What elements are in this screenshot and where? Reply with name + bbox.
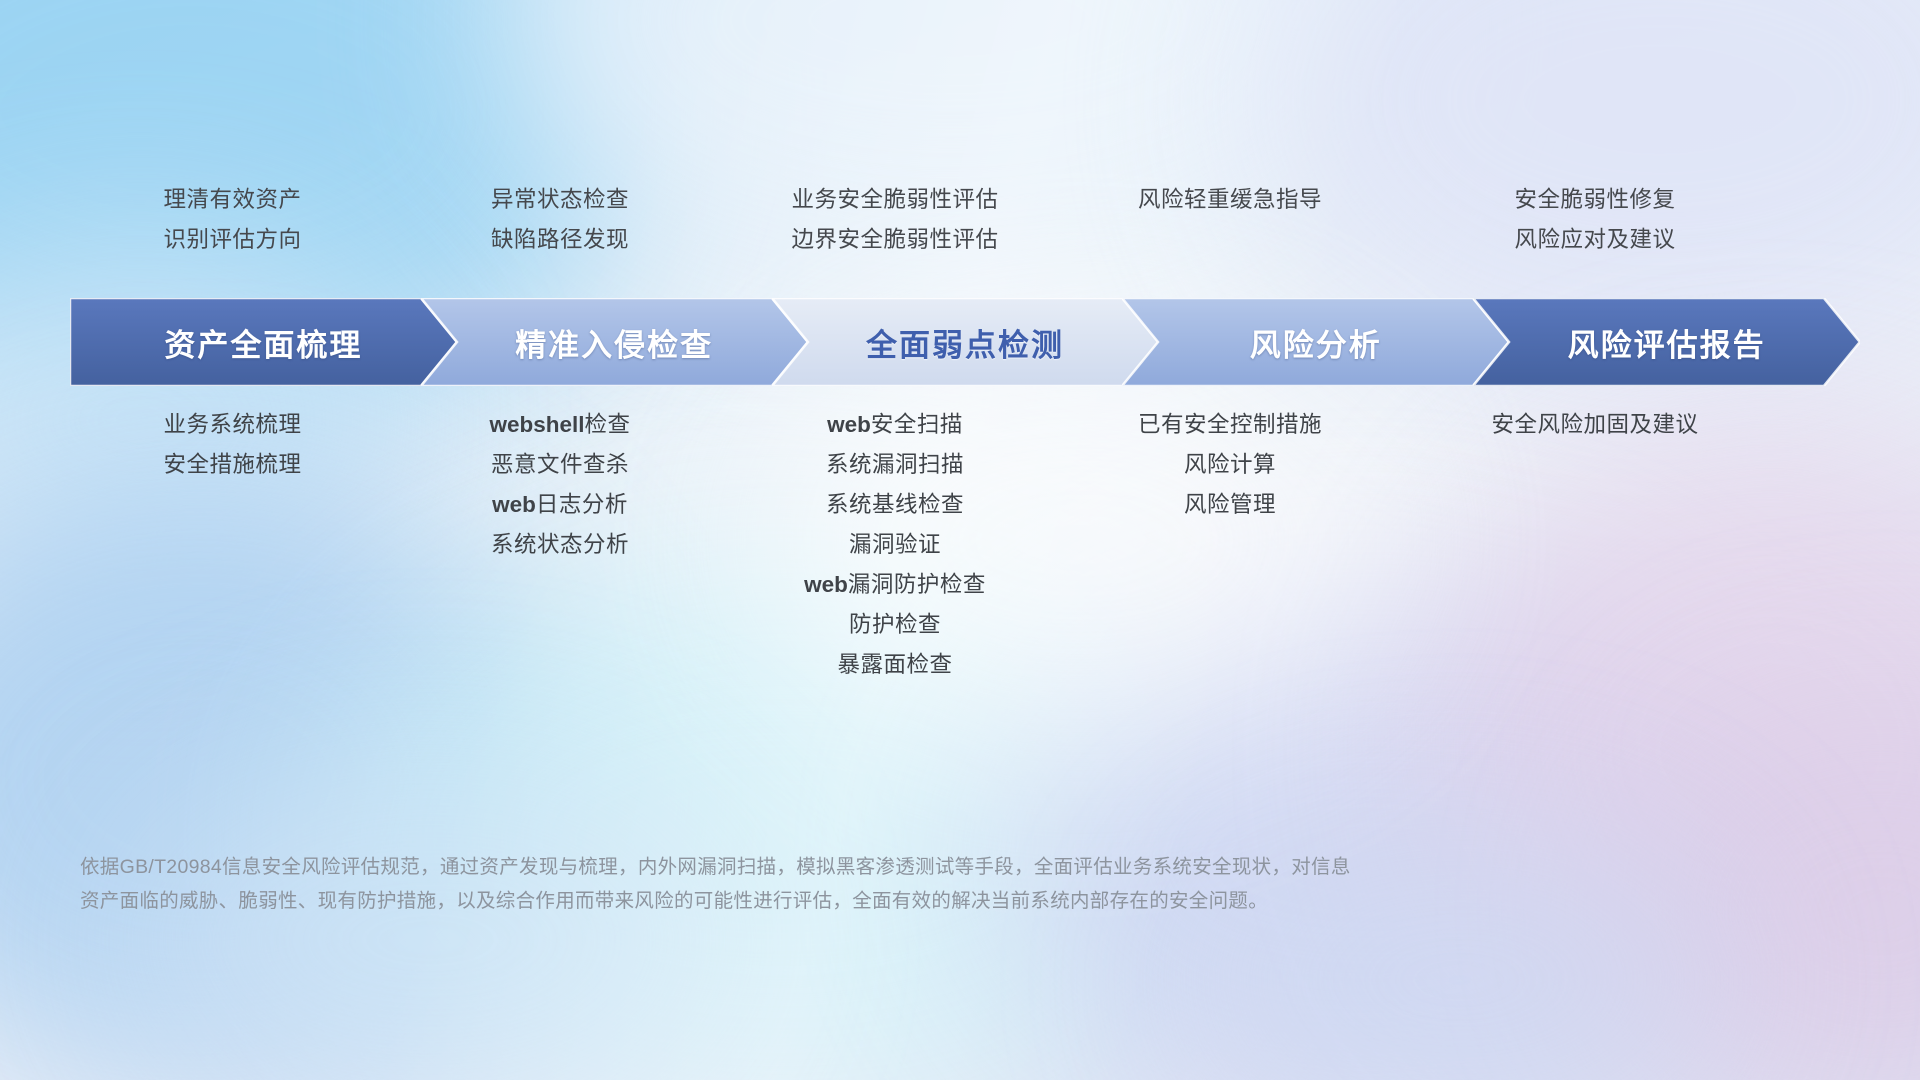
bottom-item-prefix: web	[827, 412, 871, 437]
top-column-2: 异常状态检查缺陷路径发现	[395, 180, 725, 260]
bottom-item: 防护检查	[725, 605, 1065, 645]
process-stage-4[interactable]: 风险分析	[1122, 298, 1509, 386]
process-stage-label: 风险评估报告	[1568, 320, 1766, 365]
bottom-detail-row: 业务系统梳理安全措施梳理webshell检查恶意文件查杀web日志分析系统状态分…	[70, 405, 1860, 685]
bottom-item: 暴露面检查	[725, 645, 1065, 685]
top-item: 风险应对及建议	[1395, 220, 1795, 260]
bottom-item-label: 日志分析	[536, 492, 628, 517]
top-item: 识别评估方向	[70, 220, 395, 260]
process-chevron-banner: 资产全面梳理精准入侵检查全面弱点检测风险分析风险评估报告	[70, 298, 1860, 386]
top-column-4: 风险轻重缓急指导	[1065, 180, 1395, 260]
bottom-item: 已有安全控制措施	[1065, 405, 1395, 445]
bottom-item-label: 恶意文件查杀	[491, 452, 629, 477]
bottom-item-prefix: web	[804, 572, 848, 597]
bottom-item-label: 系统基线检查	[826, 492, 964, 517]
footer-line-1: 依据GB/T20984信息安全风险评估规范，通过资产发现与梳理，内外网漏洞扫描，…	[80, 850, 1380, 884]
bottom-item: 业务系统梳理	[70, 405, 395, 445]
bottom-item: 风险计算	[1065, 445, 1395, 485]
bottom-item: web日志分析	[395, 485, 725, 525]
bottom-item: 风险管理	[1065, 485, 1395, 525]
bottom-item-prefix: web	[492, 492, 536, 517]
footer-line-2: 资产面临的威胁、脆弱性、现有防护措施，以及综合作用而带来风险的可能性进行评估，全…	[80, 884, 1380, 918]
top-column-5: 安全脆弱性修复风险应对及建议	[1395, 180, 1795, 260]
process-stage-5[interactable]: 风险评估报告	[1473, 298, 1860, 386]
bottom-item: 安全措施梳理	[70, 445, 395, 485]
bottom-item-label: 漏洞防护检查	[848, 572, 986, 597]
bottom-item: 系统基线检查	[725, 485, 1065, 525]
process-stage-2[interactable]: 精准入侵检查	[421, 298, 808, 386]
top-column-1: 理清有效资产识别评估方向	[70, 180, 395, 260]
bottom-item-label: 检查	[585, 412, 631, 437]
bottom-item-prefix: webshell	[489, 412, 584, 437]
top-item: 边界安全脆弱性评估	[725, 220, 1065, 260]
footer-description: 依据GB/T20984信息安全风险评估规范，通过资产发现与梳理，内外网漏洞扫描，…	[80, 850, 1380, 918]
bottom-item-label: 风险计算	[1184, 452, 1276, 477]
bottom-item: 系统漏洞扫描	[725, 445, 1065, 485]
top-item: 缺陷路径发现	[395, 220, 725, 260]
bottom-item-label: 风险管理	[1184, 492, 1276, 517]
bottom-item-label: 防护检查	[849, 612, 941, 637]
bottom-item-label: 业务系统梳理	[163, 412, 301, 437]
bottom-item-label: 漏洞验证	[849, 532, 941, 557]
bottom-item: webshell检查	[395, 405, 725, 445]
bottom-item-label: 暴露面检查	[837, 652, 952, 677]
bottom-column-5: 安全风险加固及建议	[1395, 405, 1795, 685]
top-item: 理清有效资产	[70, 180, 395, 220]
top-descriptor-row: 理清有效资产识别评估方向异常状态检查缺陷路径发现业务安全脆弱性评估边界安全脆弱性…	[70, 180, 1860, 260]
bottom-column-2: webshell检查恶意文件查杀web日志分析系统状态分析	[395, 405, 725, 685]
process-stage-label: 资产全面梳理	[164, 320, 362, 365]
bottom-item-label: 安全风险加固及建议	[1491, 412, 1698, 437]
bottom-item-label: 安全扫描	[871, 412, 963, 437]
process-stage-1[interactable]: 资产全面梳理	[70, 298, 457, 386]
top-item: 风险轻重缓急指导	[1065, 180, 1395, 220]
bottom-item: 系统状态分析	[395, 525, 725, 565]
infographic-stage: 理清有效资产识别评估方向异常状态检查缺陷路径发现业务安全脆弱性评估边界安全脆弱性…	[0, 0, 1920, 1080]
top-item: 异常状态检查	[395, 180, 725, 220]
bottom-item: 恶意文件查杀	[395, 445, 725, 485]
process-stage-3[interactable]: 全面弱点检测	[772, 298, 1159, 386]
top-item: 安全脆弱性修复	[1395, 180, 1795, 220]
bottom-item-label: 系统状态分析	[491, 532, 629, 557]
bottom-column-1: 业务系统梳理安全措施梳理	[70, 405, 395, 685]
bottom-column-3: web安全扫描系统漏洞扫描系统基线检查漏洞验证web漏洞防护检查防护检查暴露面检…	[725, 405, 1065, 685]
bottom-item: 安全风险加固及建议	[1395, 405, 1795, 445]
bottom-item: 漏洞验证	[725, 525, 1065, 565]
bottom-item-label: 系统漏洞扫描	[826, 452, 964, 477]
bottom-item: web安全扫描	[725, 405, 1065, 445]
process-stage-label: 精准入侵检查	[515, 320, 713, 365]
process-stage-label: 风险分析	[1250, 320, 1382, 365]
top-item: 业务安全脆弱性评估	[725, 180, 1065, 220]
bottom-column-4: 已有安全控制措施风险计算风险管理	[1065, 405, 1395, 685]
bottom-item-label: 安全措施梳理	[163, 452, 301, 477]
bottom-item: web漏洞防护检查	[725, 565, 1065, 605]
top-column-3: 业务安全脆弱性评估边界安全脆弱性评估	[725, 180, 1065, 260]
bottom-item-label: 已有安全控制措施	[1138, 412, 1322, 437]
process-stage-label: 全面弱点检测	[866, 320, 1064, 365]
